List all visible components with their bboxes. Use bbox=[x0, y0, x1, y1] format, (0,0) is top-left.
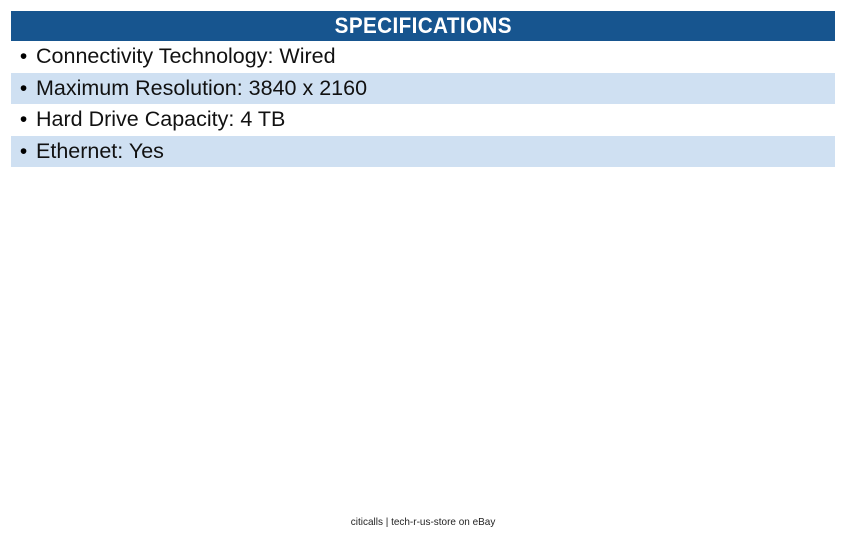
spec-row-maximum-resolution: • Maximum Resolution: 3840 x 2160 bbox=[11, 73, 835, 105]
spec-row-label: Hard Drive Capacity: 4 TB bbox=[36, 109, 835, 131]
bullet-icon: • bbox=[11, 109, 36, 130]
specifications-panel: SPECIFICATIONS • Connectivity Technology… bbox=[11, 11, 835, 167]
specifications-header: SPECIFICATIONS bbox=[11, 11, 835, 41]
bullet-icon: • bbox=[11, 141, 36, 162]
spec-row-ethernet: • Ethernet: Yes bbox=[11, 136, 835, 168]
spec-row-connectivity-technology: • Connectivity Technology: Wired bbox=[11, 41, 835, 73]
bullet-icon: • bbox=[11, 78, 36, 99]
footer: citicalls | tech-r-us-store on eBay bbox=[0, 512, 846, 530]
footer-seller-attribution: citicalls | tech-r-us-store on eBay bbox=[351, 517, 496, 528]
spec-row-label: Maximum Resolution: 3840 x 2160 bbox=[36, 78, 835, 100]
spec-row-label: Ethernet: Yes bbox=[36, 141, 835, 163]
page-title: SPECIFICATIONS bbox=[334, 15, 511, 37]
spec-row-label: Connectivity Technology: Wired bbox=[36, 46, 835, 68]
spec-row-hard-drive-capacity: • Hard Drive Capacity: 4 TB bbox=[11, 104, 835, 136]
bullet-icon: • bbox=[11, 46, 36, 67]
